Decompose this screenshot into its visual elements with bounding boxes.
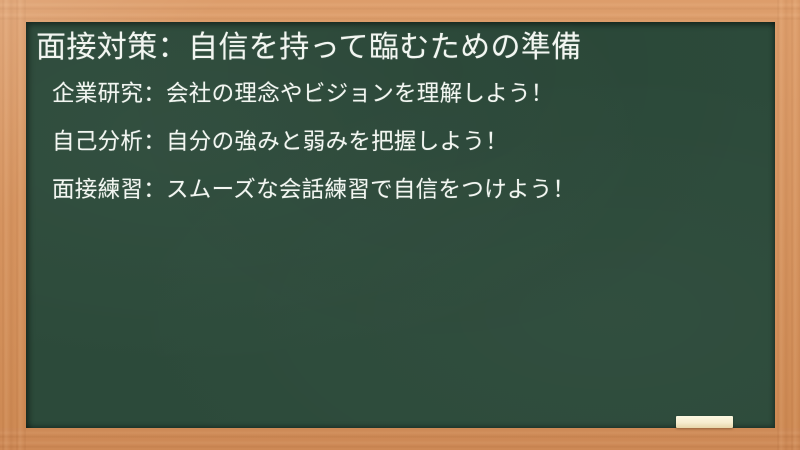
bullet-list: 企業研究：会社の理念やビジョンを理解しよう！ 自己分析：自分の強みと弱みを把握し… (36, 82, 761, 204)
bullet-item-company-research: 企業研究：会社の理念やビジョンを理解しよう！ (52, 82, 761, 107)
frame-rail-right (775, 0, 800, 450)
chalkboard-content: 面接対策：自信を持って臨むための準備 企業研究：会社の理念やビジョンを理解しよう… (26, 22, 775, 203)
frame-rail-left (0, 0, 26, 450)
slide-title: 面接対策：自信を持って臨むための準備 (36, 28, 761, 68)
chalkboard-surface: 面接対策：自信を持って臨むための準備 企業研究：会社の理念やビジョンを理解しよう… (26, 22, 775, 428)
frame-rail-bottom (0, 428, 800, 450)
chalkboard-slide: 面接対策：自信を持って臨むための準備 企業研究：会社の理念やビジョンを理解しよう… (0, 0, 800, 450)
bullet-item-interview-practice: 面接練習：スムーズな会話練習で自信をつけよう！ (52, 178, 761, 203)
frame-rail-top (0, 0, 800, 22)
bullet-item-self-analysis: 自己分析：自分の強みと弱みを把握しよう！ (52, 130, 761, 155)
chalk-stick-icon (676, 416, 733, 428)
